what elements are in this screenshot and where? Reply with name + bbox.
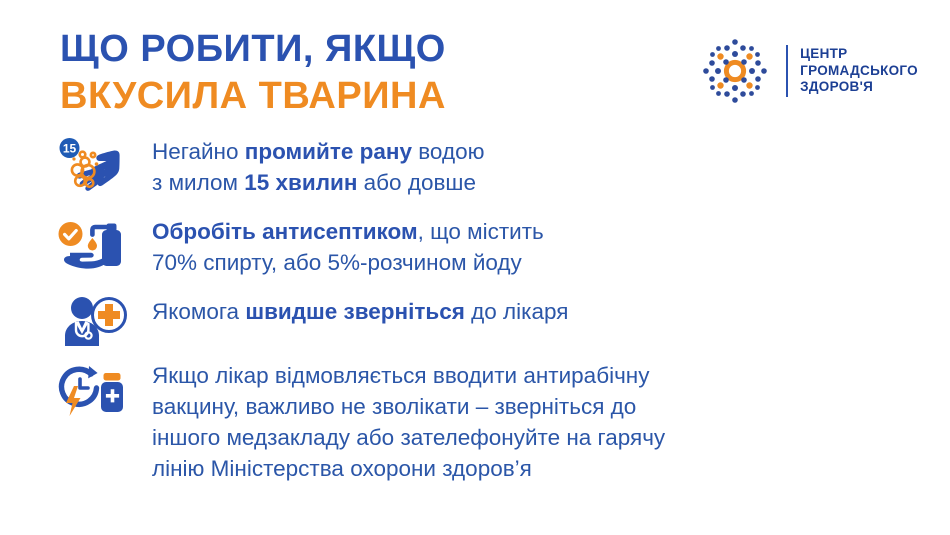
- text-run: Негайно: [152, 139, 245, 164]
- text-run: або довше: [357, 170, 476, 195]
- handwashing-15-minutes-icon: 15: [58, 136, 130, 200]
- list-item-text: Обробіть антисептиком, що містить 70% сп…: [130, 216, 950, 278]
- infographic-poster: ЩО РОБИТИ, ЯКЩО ВКУСИЛА ТВАРИНА: [0, 0, 950, 535]
- list-item: Обробіть антисептиком, що містить 70% сп…: [0, 216, 950, 278]
- steps-list: 15 Негайно промийте рану водою з милом 1…: [0, 136, 950, 484]
- logo-divider: [786, 45, 788, 97]
- text-line: Якщо лікар відмовляється вводити антираб…: [152, 360, 930, 391]
- text-run: вакцину, важливо не зволікати – зверніть…: [152, 394, 636, 419]
- list-item-text: Негайно промийте рану водою з милом 15 х…: [130, 136, 950, 198]
- cphl-dot-emblem-icon: [696, 32, 774, 110]
- organization-logo: ЦЕНТР ГРОМАДСЬКОГО ЗДОРОВ'Я: [696, 32, 918, 110]
- text-line: іншого медзакладу або зателефонуйте на г…: [152, 422, 930, 453]
- text-run: до лікаря: [465, 299, 569, 324]
- text-line: 70% спирту, або 5%-розчином йоду: [152, 247, 930, 278]
- text-run-bold: 15 хвилин: [244, 170, 357, 195]
- text-line: Обробіть антисептиком, що містить: [152, 216, 930, 247]
- logo-text-line-1: ЦЕНТР: [800, 46, 918, 63]
- text-run: 70% спирту, або 5%-розчином йоду: [152, 250, 522, 275]
- logo-text-line-2: ГРОМАДСЬКОГО: [800, 63, 918, 80]
- list-item: Якщо лікар відмовляється вводити антираб…: [0, 360, 950, 484]
- text-line: вакцину, важливо не зволікати – зверніть…: [152, 391, 930, 422]
- text-line: лінію Міністерства охорони здоров’я: [152, 453, 930, 484]
- poster-header: ЩО РОБИТИ, ЯКЩО ВКУСИЛА ТВАРИНА: [0, 26, 950, 126]
- text-run-bold: Обробіть антисептиком: [152, 219, 418, 244]
- text-line: Якомога швидше зверніться до лікаря: [152, 296, 930, 327]
- badge-minutes-label: 15: [63, 142, 77, 156]
- text-run: , що містить: [418, 219, 544, 244]
- text-run: Якщо лікар відмовляється вводити антираб…: [152, 363, 649, 388]
- text-line: з милом 15 хвилин або довше: [152, 167, 930, 198]
- urgent-vaccine-clock-icon: [58, 360, 130, 420]
- logo-text-line-3: ЗДОРОВ'Я: [800, 79, 918, 96]
- logo-text: ЦЕНТР ГРОМАДСЬКОГО ЗДОРОВ'Я: [800, 46, 918, 96]
- text-run: Якомога: [152, 299, 245, 324]
- list-item: 15 Негайно промийте рану водою з милом 1…: [0, 136, 950, 200]
- page-title: ЩО РОБИТИ, ЯКЩО ВКУСИЛА ТВАРИНА: [60, 26, 446, 120]
- list-item-text: Якщо лікар відмовляється вводити антираб…: [130, 360, 950, 484]
- text-run: з милом: [152, 170, 244, 195]
- list-item-text: Якомога швидше зверніться до лікаря: [130, 292, 950, 327]
- text-run-bold: промийте рану: [245, 139, 412, 164]
- text-run: водою: [412, 139, 485, 164]
- list-item: Якомога швидше зверніться до лікаря: [0, 292, 950, 348]
- doctor-medical-cross-icon: [58, 292, 130, 348]
- antiseptic-dispenser-check-icon: [58, 216, 130, 276]
- title-line-primary: ЩО РОБИТИ, ЯКЩО: [60, 26, 446, 73]
- text-line: Негайно промийте рану водою: [152, 136, 930, 167]
- text-run: іншого медзакладу або зателефонуйте на г…: [152, 425, 665, 450]
- text-run-bold: швидше зверніться: [245, 299, 465, 324]
- text-run: лінію Міністерства охорони здоров’я: [152, 456, 532, 481]
- title-line-secondary: ВКУСИЛА ТВАРИНА: [60, 73, 446, 120]
